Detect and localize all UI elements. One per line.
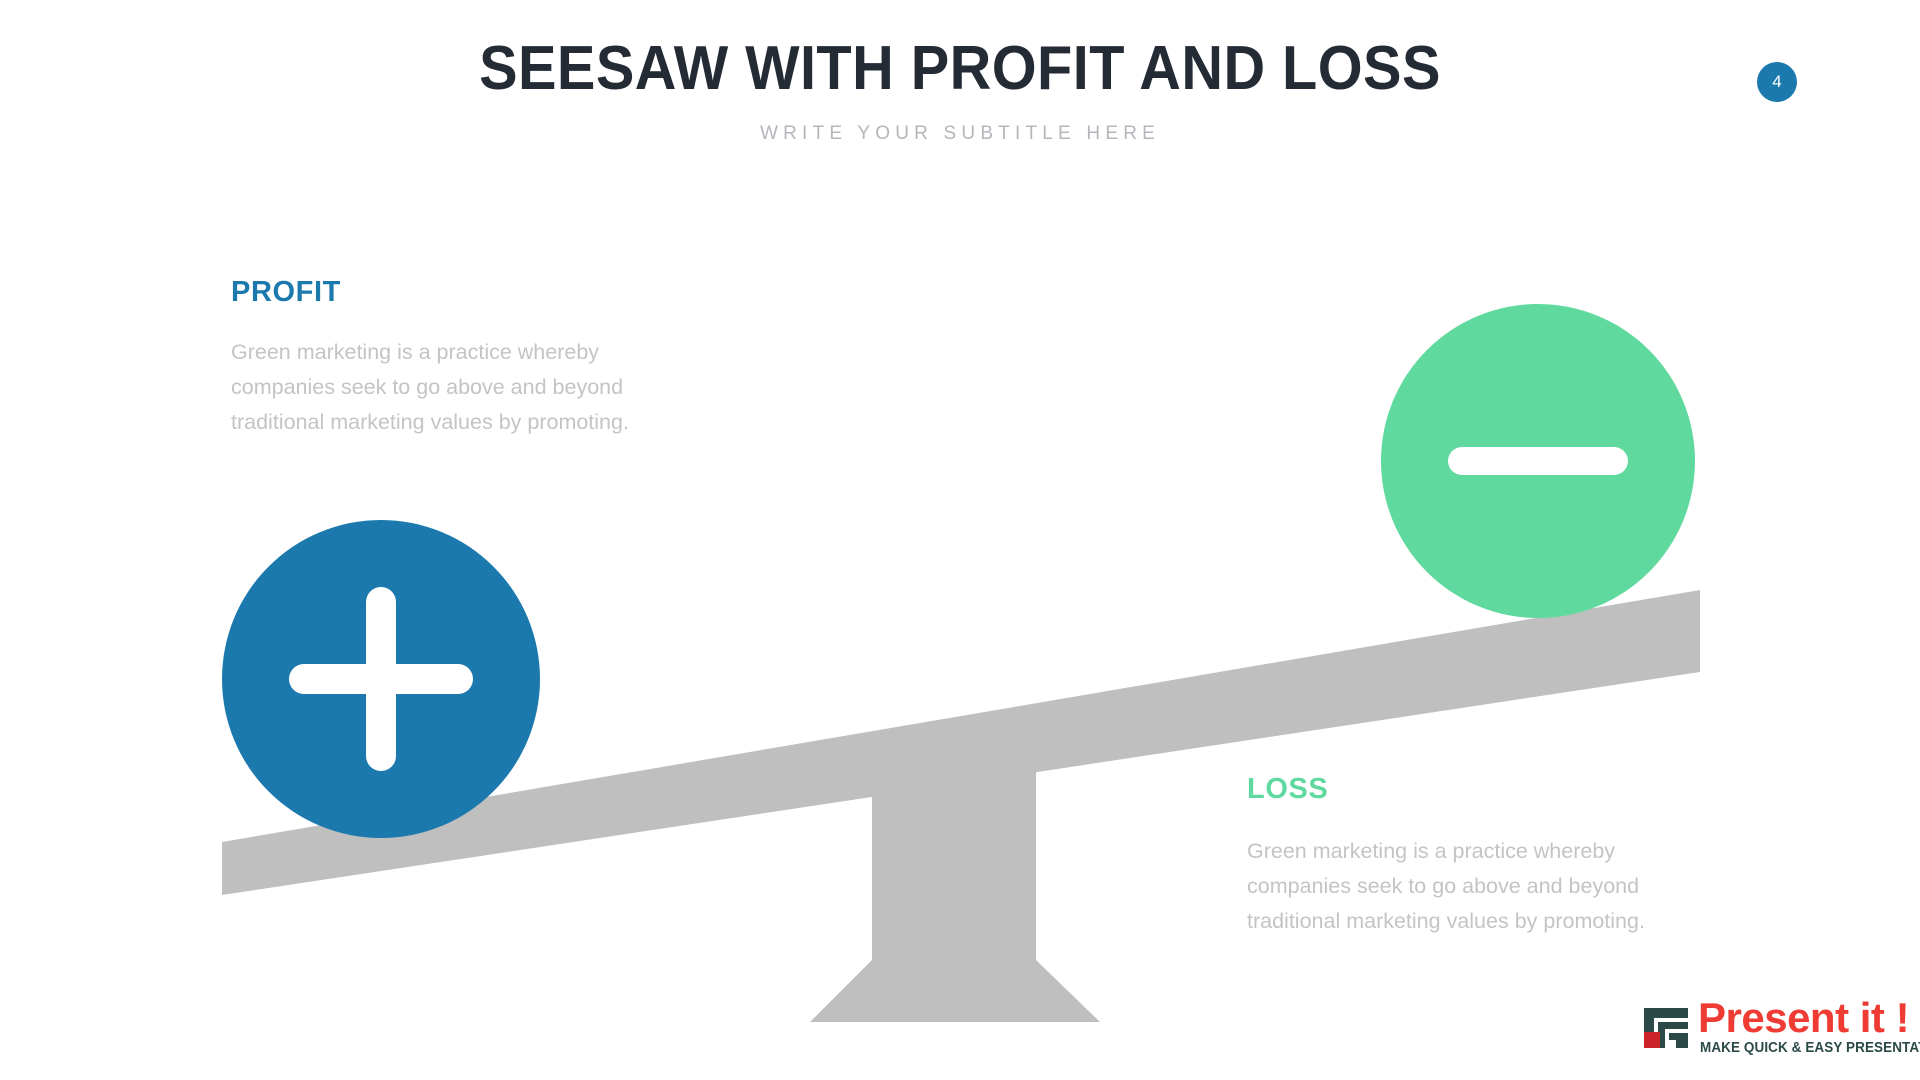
stacked-bars-mark-icon (1640, 1002, 1692, 1052)
page-title: SEESAW WITH PROFIT AND LOSS (67, 36, 1853, 101)
loss-heading: LOSS (1247, 775, 1717, 804)
loss-circle (1381, 304, 1695, 618)
page-subtitle: WRITE YOUR SUBTITLE HERE (0, 123, 1920, 145)
profit-body-text: Green marketing is a practice whereby co… (231, 335, 701, 440)
plus-icon-vertical (366, 587, 396, 771)
plus-icon-horizontal (289, 664, 473, 694)
profit-circle (222, 520, 540, 838)
minus-icon-bar (1448, 447, 1628, 475)
presentit-logo: Present it ! MAKE QUICK & EASY PRESENTAT… (1640, 1000, 1900, 1068)
loss-text-block: LOSS Green marketing is a practice where… (1247, 775, 1717, 939)
logo-tagline: MAKE QUICK & EASY PRESENTATIONS (1700, 1040, 1920, 1056)
profit-heading: PROFIT (231, 278, 701, 307)
slide-canvas: SEESAW WITH PROFIT AND LOSS WRITE YOUR S… (0, 0, 1920, 1080)
seesaw-fulcrum (810, 760, 1100, 1022)
loss-body-text: Green marketing is a practice whereby co… (1247, 834, 1717, 939)
page-number-badge: 4 (1757, 62, 1797, 102)
logo-wordmark: Present it ! (1698, 994, 1909, 1042)
profit-text-block: PROFIT Green marketing is a practice whe… (231, 278, 701, 440)
